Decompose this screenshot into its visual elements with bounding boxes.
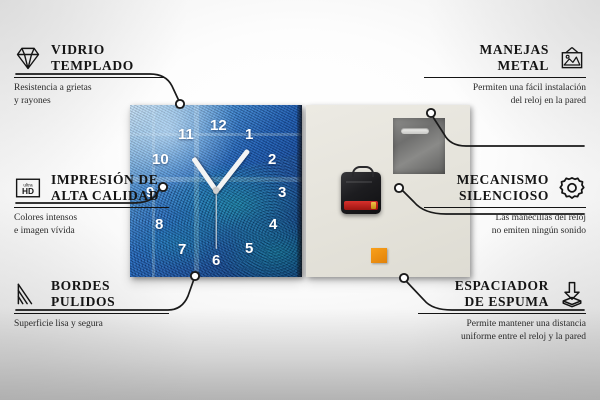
- callout-title: TEMPLADO: [51, 58, 134, 74]
- infographic-canvas: 12 1 2 3 4 5 6 7 8 9 10 11: [0, 0, 600, 400]
- foam-spacer: [371, 248, 387, 263]
- callout-desc: Colores intensos: [14, 212, 169, 225]
- second-hand: [215, 191, 216, 249]
- callout-desc: Resistencia a grietas: [14, 82, 164, 95]
- callout-divider: [14, 77, 164, 79]
- metal-hanger-plate: [393, 118, 445, 174]
- clock-numeral: 11: [178, 127, 194, 142]
- callout-title: VIDRIO: [51, 42, 134, 58]
- callout-desc: uniforme entre el reloj y la pared: [418, 331, 586, 344]
- hanger-keyhole-slot: [401, 128, 429, 134]
- callout-divider: [424, 77, 586, 79]
- callout-divider: [14, 313, 169, 315]
- clock-numeral: 3: [278, 185, 286, 200]
- mechanism-hanging-loop: [352, 166, 374, 177]
- callout-vidrio-templado: VIDRIO TEMPLADO Resistencia a grietas y …: [14, 42, 164, 108]
- product-photo: 12 1 2 3 4 5 6 7 8 9 10 11: [130, 105, 470, 277]
- clock-numeral: 7: [178, 242, 186, 257]
- callout-desc: y rayones: [14, 95, 164, 108]
- callout-title: ALTA CALIDAD: [51, 188, 159, 204]
- callout-desc: e imagen vívida: [14, 225, 169, 238]
- callout-title: MECANISMO: [457, 172, 549, 188]
- callout-desc: Superficie lisa y segura: [14, 318, 169, 331]
- callout-title: BORDES: [51, 278, 115, 294]
- callout-title: MANEJAS: [480, 42, 549, 58]
- ultra-hd-icon: ultra HD: [14, 174, 42, 202]
- diamond-icon: [14, 44, 42, 72]
- svg-text:HD: HD: [22, 186, 34, 196]
- callout-desc: Las manecillas del reloj: [424, 212, 586, 225]
- callout-impresion-alta-calidad: ultra HD IMPRESIÓN DE ALTA CALIDAD Color…: [14, 172, 169, 238]
- clock-numeral: 1: [245, 127, 253, 142]
- quartz-mechanism: [341, 172, 381, 214]
- picture-frame-hanger-icon: [558, 44, 586, 72]
- clock-numeral: 2: [268, 152, 276, 167]
- clock-numeral: 6: [212, 253, 220, 268]
- foam-spacer-arrow-icon: [558, 280, 586, 308]
- callout-espaciador-espuma: ESPACIADOR DE ESPUMA Permite mantener un…: [418, 278, 586, 344]
- callout-manejas-metal: MANEJAS METAL Permiten una fácil instala…: [424, 42, 586, 108]
- gear-icon: [558, 174, 586, 202]
- clock-numeral: 4: [269, 217, 277, 232]
- callout-title: DE ESPUMA: [455, 294, 549, 310]
- callout-bordes-pulidos: BORDES PULIDOS Superficie lisa y segura: [14, 278, 169, 331]
- callout-title: ESPACIADOR: [455, 278, 549, 294]
- callout-desc: Permite mantener una distancia: [418, 318, 586, 331]
- clock-numeral: 10: [152, 152, 169, 167]
- callout-desc: del reloj en la pared: [424, 95, 586, 108]
- hands-center-cap: [213, 188, 219, 194]
- polished-edges-icon: [14, 280, 42, 308]
- callout-desc: Permiten una fácil instalación: [424, 82, 586, 95]
- callout-title: PULIDOS: [51, 294, 115, 310]
- callout-divider: [418, 313, 586, 315]
- callout-divider: [14, 207, 169, 209]
- callout-title: SILENCIOSO: [457, 188, 549, 204]
- clock-numeral: 12: [210, 118, 227, 133]
- callout-title: METAL: [480, 58, 549, 74]
- callout-mecanismo-silencioso: MECANISMO SILENCIOSO Las manecillas del …: [424, 172, 586, 238]
- battery: [344, 201, 378, 210]
- callout-title: IMPRESIÓN DE: [51, 172, 159, 188]
- callout-divider: [424, 207, 586, 209]
- clock-numeral: 5: [245, 241, 253, 256]
- callout-desc: no emiten ningún sonido: [424, 225, 586, 238]
